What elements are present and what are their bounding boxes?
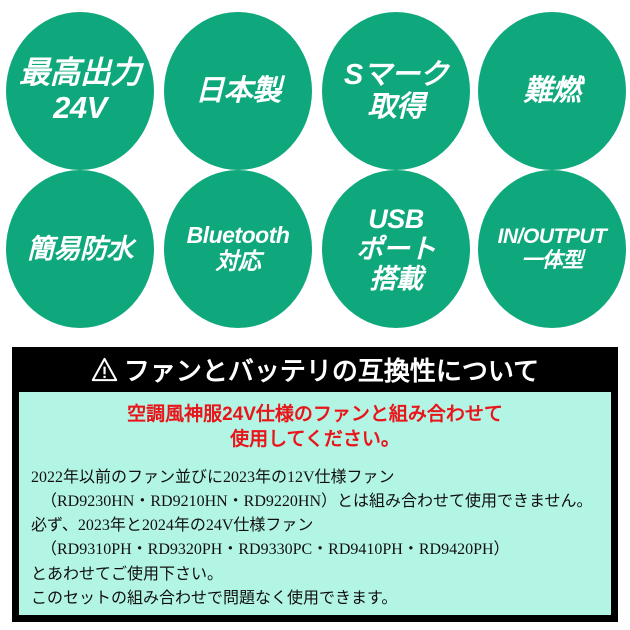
- notice-alert-text: 空調風神服24V仕様のファンと組み合わせて使用してください。: [31, 402, 599, 453]
- feature-badge-label: 最高出力: [19, 56, 141, 91]
- notice-alert-line: 空調風神服24V仕様のファンと組み合わせて: [31, 402, 599, 427]
- feature-badge-label: 対応: [216, 249, 261, 275]
- compatibility-notice-panel: ファンとバッテリの互換性について 空調風神服24V仕様のファンと組み合わせて使用…: [12, 347, 618, 622]
- feature-badge-label: 難燃: [523, 75, 580, 107]
- notice-detail-line: このセットの組み合わせで問題なく使用できます。: [31, 587, 599, 611]
- notice-detail-text: 2022年以前のファン並びに2023年の12V仕様ファン（RD9230HN・RD…: [31, 466, 599, 612]
- feature-badge-usb-port: USBポート搭載: [322, 170, 470, 328]
- feature-badge-s-mark: Sマーク取得: [322, 12, 470, 170]
- feature-badge-made-in-japan: 日本製: [164, 12, 312, 170]
- feature-badge-label: 一体型: [521, 249, 583, 273]
- feature-badge-flame-retardant: 難燃: [478, 12, 626, 170]
- feature-badge-label: 搭載: [370, 264, 423, 294]
- notice-detail-line: （RD9310PH・RD9320PH・RD9330PC・RD9410PH・RD9…: [31, 538, 599, 562]
- feature-badge-label: Sマーク: [344, 59, 448, 91]
- feature-badge-max-output-24v: 最高出力24V: [6, 12, 154, 170]
- feature-badge-label: IN/OUTPUT: [498, 225, 607, 249]
- notice-alert-line: 使用してください。: [31, 427, 599, 452]
- notice-detail-line: とあわせてご使用下さい。: [31, 563, 599, 587]
- feature-badge-bluetooth: Bluetooth対応: [164, 170, 312, 328]
- notice-detail-line: 必ず、2023年と2024年の24V仕様ファン: [31, 514, 599, 538]
- notice-detail-line: 2022年以前のファン並びに2023年の12V仕様ファン: [31, 466, 599, 490]
- feature-badge-label: 24V: [53, 91, 107, 126]
- feature-badge-label: 取得: [367, 91, 424, 123]
- feature-badge-label: ポート: [356, 234, 436, 264]
- feature-badge-grid: 最高出力24V日本製Sマーク取得難燃簡易防水Bluetooth対応USBポート搭…: [0, 0, 630, 340]
- notice-body: 空調風神服24V仕様のファンと組み合わせて使用してください。 2022年以前のフ…: [19, 392, 611, 615]
- notice-title: ファンとバッテリの互換性について: [124, 351, 539, 388]
- notice-detail-line: （RD9230HN・RD9210HN・RD9220HN）とは組み合わせて使用でき…: [31, 490, 599, 514]
- feature-badge-in-out-unified: IN/OUTPUT一体型: [478, 170, 626, 328]
- feature-badge-water-resistant: 簡易防水: [6, 170, 154, 328]
- feature-badge-label: 日本製: [195, 75, 281, 107]
- feature-badge-label: 簡易防水: [27, 234, 133, 264]
- notice-header-bar: ファンとバッテリの互換性について: [12, 347, 618, 392]
- warning-triangle-icon: [91, 357, 118, 382]
- feature-badge-label: Bluetooth: [187, 223, 290, 249]
- feature-badge-label: USB: [368, 204, 424, 234]
